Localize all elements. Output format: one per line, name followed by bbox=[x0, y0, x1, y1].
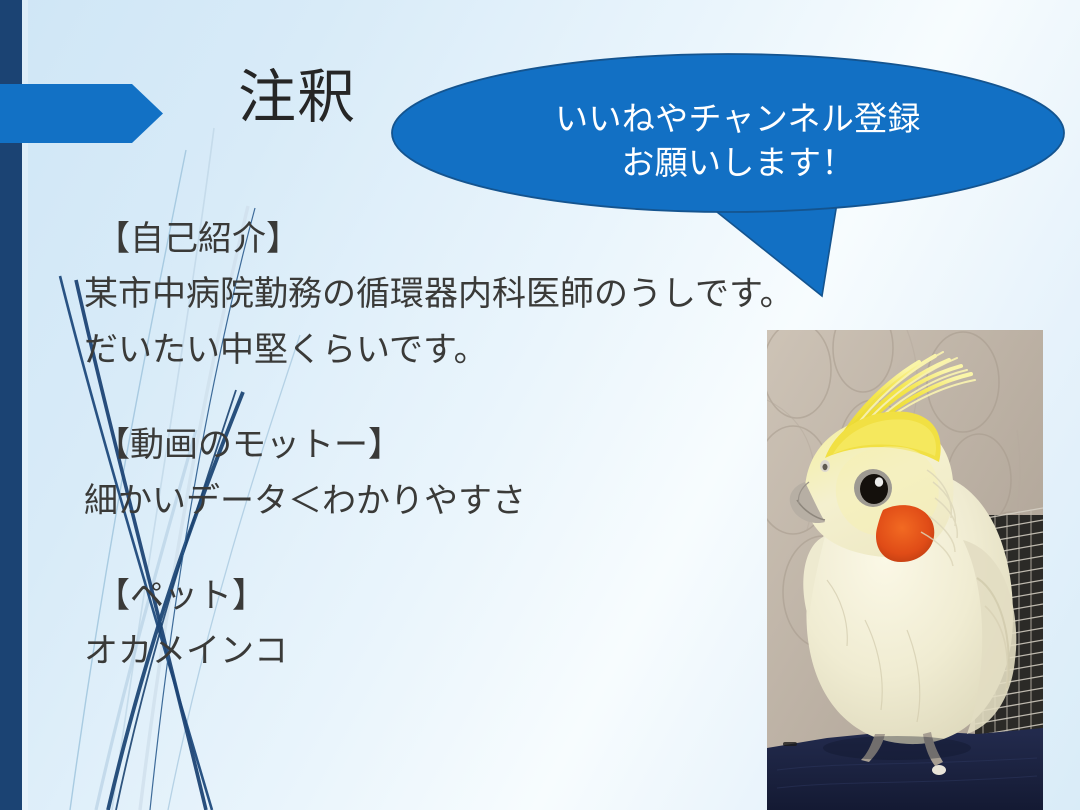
body-spacer-2 bbox=[84, 529, 784, 569]
body-spacer-1 bbox=[84, 378, 784, 418]
body-line-pet-heading: 【ペット】 bbox=[84, 569, 784, 624]
body-line-self-intro-2: だいたい中堅くらいです。 bbox=[84, 323, 784, 378]
page-title: 注釈 bbox=[238, 68, 356, 129]
body-line-motto-heading: 【動画のモットー】 bbox=[84, 418, 784, 473]
body-line-self-intro-1: 某市中病院勤務の循環器内科医師のうしです。 bbox=[84, 267, 784, 322]
speech-bubble-line-2: お願いします！ bbox=[408, 141, 1068, 185]
body-text-block: 【自己紹介】 某市中病院勤務の循環器内科医師のうしです。 だいたい中堅くらいです… bbox=[84, 212, 784, 680]
body-line-motto-1: 細かいデータ＜わかりやすさ bbox=[84, 474, 784, 529]
speech-bubble-text: いいねやチャンネル登録 お願いします！ bbox=[408, 97, 1068, 185]
body-line-self-intro-heading: 【自己紹介】 bbox=[84, 212, 784, 267]
body-line-pet-1: オカメインコ bbox=[84, 624, 784, 679]
speech-bubble-line-1: いいねやチャンネル登録 bbox=[555, 100, 921, 137]
blue-arrow-banner bbox=[0, 84, 163, 143]
cockatiel-photo bbox=[767, 330, 1043, 810]
slide-canvas: 注釈 いいねやチャンネル登録 お願いします！ 【自己紹介】 某市中病院勤務の循環… bbox=[0, 0, 1080, 810]
